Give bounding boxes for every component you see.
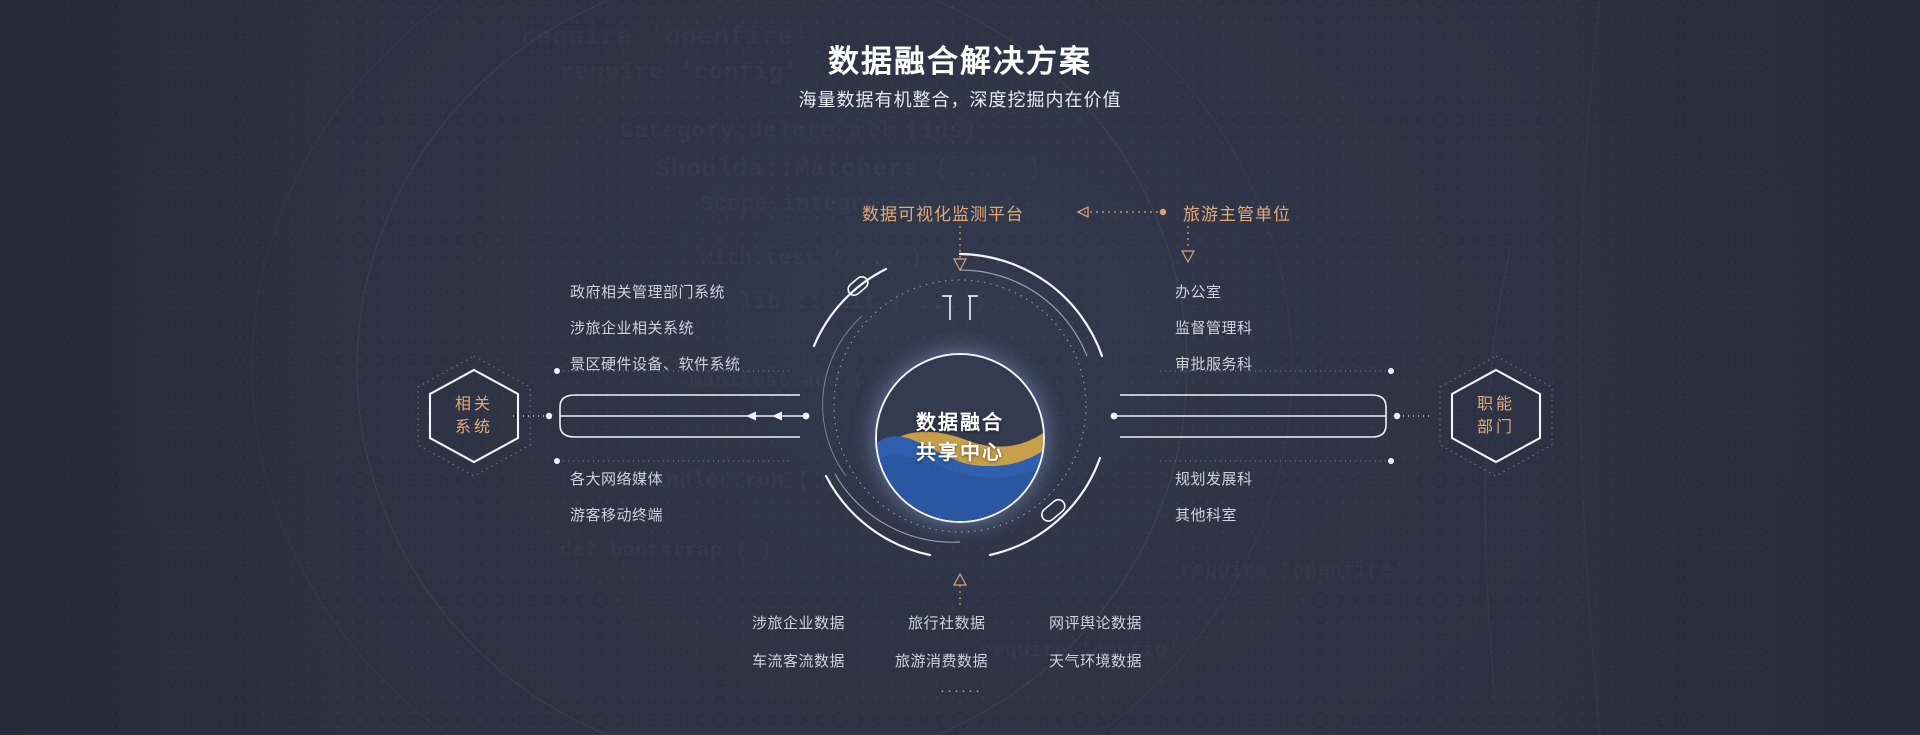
bottom-item-weather-env: 天气环境数据 [1049, 650, 1142, 671]
sphere-line-2: 共享中心 [916, 438, 1004, 468]
page-subtitle: 海量数据有机整合，深度挖掘内在价值 [0, 86, 1920, 112]
left-hexagon-related-systems[interactable]: 相关 系统 [412, 354, 536, 478]
right-item-other-offices: 其他科室 [1175, 504, 1237, 525]
bottom-item-enterprise-data: 涉旅企业数据 [752, 612, 845, 633]
page-title: 数据融合解决方案 [0, 36, 1920, 81]
bottom-item-traffic-flow: 车流客流数据 [752, 650, 845, 671]
hexagon-line-2: 系统 [455, 416, 493, 439]
right-item-supervision: 监督管理科 [1175, 317, 1253, 338]
hexagon-line-2: 部门 [1477, 416, 1515, 439]
left-item-scenic-hardware: 景区硬件设备、软件系统 [570, 353, 741, 374]
left-item-government-systems: 政府相关管理部门系统 [570, 281, 725, 302]
node-data-visualization-platform[interactable]: 数据可视化监测平台 [862, 200, 1024, 225]
left-item-tourism-enterprise: 涉旅企业相关系统 [570, 317, 694, 338]
right-hexagon-functional-departments[interactable]: 职能 部门 [1434, 354, 1558, 478]
bottom-item-online-review: 网评舆论数据 [1049, 612, 1142, 633]
bottom-ellipsis: ······ [940, 682, 982, 699]
bottom-item-tourism-spend: 旅游消费数据 [895, 650, 988, 671]
hexagon-label: 职能 部门 [1434, 354, 1558, 478]
sphere-line-1: 数据融合 [916, 408, 1004, 438]
right-item-planning: 规划发展科 [1175, 468, 1253, 489]
sphere-text: 数据融合 共享中心 [877, 355, 1043, 521]
hexagon-label: 相关 系统 [412, 354, 536, 478]
left-item-network-media: 各大网络媒体 [570, 468, 663, 489]
hexagon-line-1: 相关 [455, 393, 493, 416]
center-sphere: 数据融合 共享中心 [877, 355, 1043, 521]
node-tourism-authority[interactable]: 旅游主管单位 [1183, 200, 1291, 225]
right-item-office: 办公室 [1175, 281, 1222, 302]
hexagon-line-1: 职能 [1477, 393, 1515, 416]
right-item-approval-service: 审批服务科 [1175, 353, 1253, 374]
left-item-tourist-mobile: 游客移动终端 [570, 504, 663, 525]
bottom-item-travel-agency: 旅行社数据 [908, 612, 986, 633]
